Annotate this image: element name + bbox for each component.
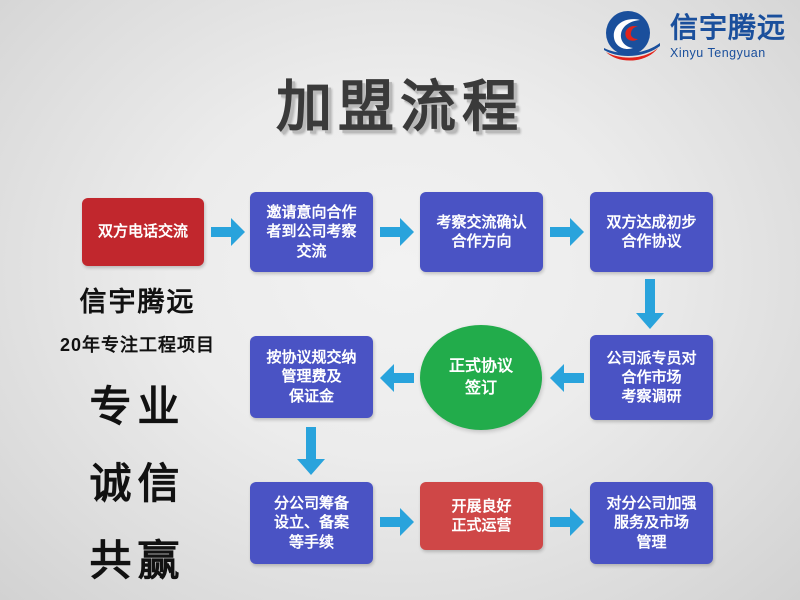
flow-node-pay-fees[interactable]: 按协议规交纳 管理费及 保证金 [250, 336, 373, 418]
brand-logo-text: 信宇腾远 Xinyu Tengyuan [670, 14, 786, 60]
slogan-word-2: 诚信 [30, 450, 245, 511]
slogan-block: 信宇腾远 20年专注工程项目 专业 诚信 共赢 [30, 280, 245, 588]
arrow-n9-n10 [550, 508, 584, 536]
flow-node-phone-contact[interactable]: 双方电话交流 [82, 198, 204, 266]
arrow-n3-n4 [550, 218, 584, 246]
slogan-word-3: 共赢 [30, 527, 245, 588]
arrow-n4-n5 [636, 279, 664, 329]
flow-node-confirm-direction[interactable]: 考察交流确认 合作方向 [420, 192, 543, 272]
brand-name-cn: 信宇腾远 [670, 14, 786, 42]
arrow-n7-n8 [297, 427, 325, 475]
arrow-n2-n3 [380, 218, 414, 246]
flow-node-sign-agreement[interactable]: 正式协议 签订 [420, 325, 542, 430]
arrow-n6-n7 [380, 364, 414, 392]
flow-node-ongoing-support[interactable]: 对分公司加强 服务及市场 管理 [590, 482, 713, 564]
slogan-brand: 信宇腾远 [30, 280, 245, 319]
flow-node-label: 双方电话交流 [98, 222, 188, 241]
flow-node-market-research[interactable]: 公司派专员对 合作市场 考察调研 [590, 335, 713, 420]
flow-node-label: 开展良好 正式运营 [451, 497, 511, 535]
flow-node-label: 考察交流确认 合作方向 [436, 213, 526, 251]
arrow-n1-n2 [211, 218, 245, 246]
slogan-word-1: 专业 [30, 373, 245, 434]
flow-node-initial-agreement[interactable]: 双方达成初步 合作协议 [590, 192, 713, 272]
flow-node-start-operation[interactable]: 开展良好 正式运营 [420, 482, 543, 550]
flow-node-label: 分公司筹备 设立、备案 等手续 [274, 494, 349, 552]
brand-logo: 信宇腾远 Xinyu Tengyuan [600, 8, 786, 66]
swoosh-logo-icon [600, 8, 662, 66]
flow-node-branch-setup[interactable]: 分公司筹备 设立、备案 等手续 [250, 482, 373, 564]
slogan-subtitle: 20年专注工程项目 [30, 331, 245, 357]
flow-node-label: 正式协议 签订 [449, 356, 513, 399]
flow-node-label: 对分公司加强 服务及市场 管理 [606, 494, 696, 552]
page-title: 加盟流程 [0, 62, 800, 143]
arrow-n5-n6 [550, 364, 584, 392]
flow-node-invite-visit[interactable]: 邀请意向合作 者到公司考察 交流 [250, 192, 373, 272]
flow-node-label: 公司派专员对 合作市场 考察调研 [606, 349, 696, 407]
flow-node-label: 双方达成初步 合作协议 [606, 213, 696, 251]
flow-node-label: 按协议规交纳 管理费及 保证金 [266, 348, 356, 406]
flow-node-label: 邀请意向合作 者到公司考察 交流 [266, 203, 356, 261]
brand-name-en: Xinyu Tengyuan [670, 47, 766, 60]
arrow-n8-n9 [380, 508, 414, 536]
